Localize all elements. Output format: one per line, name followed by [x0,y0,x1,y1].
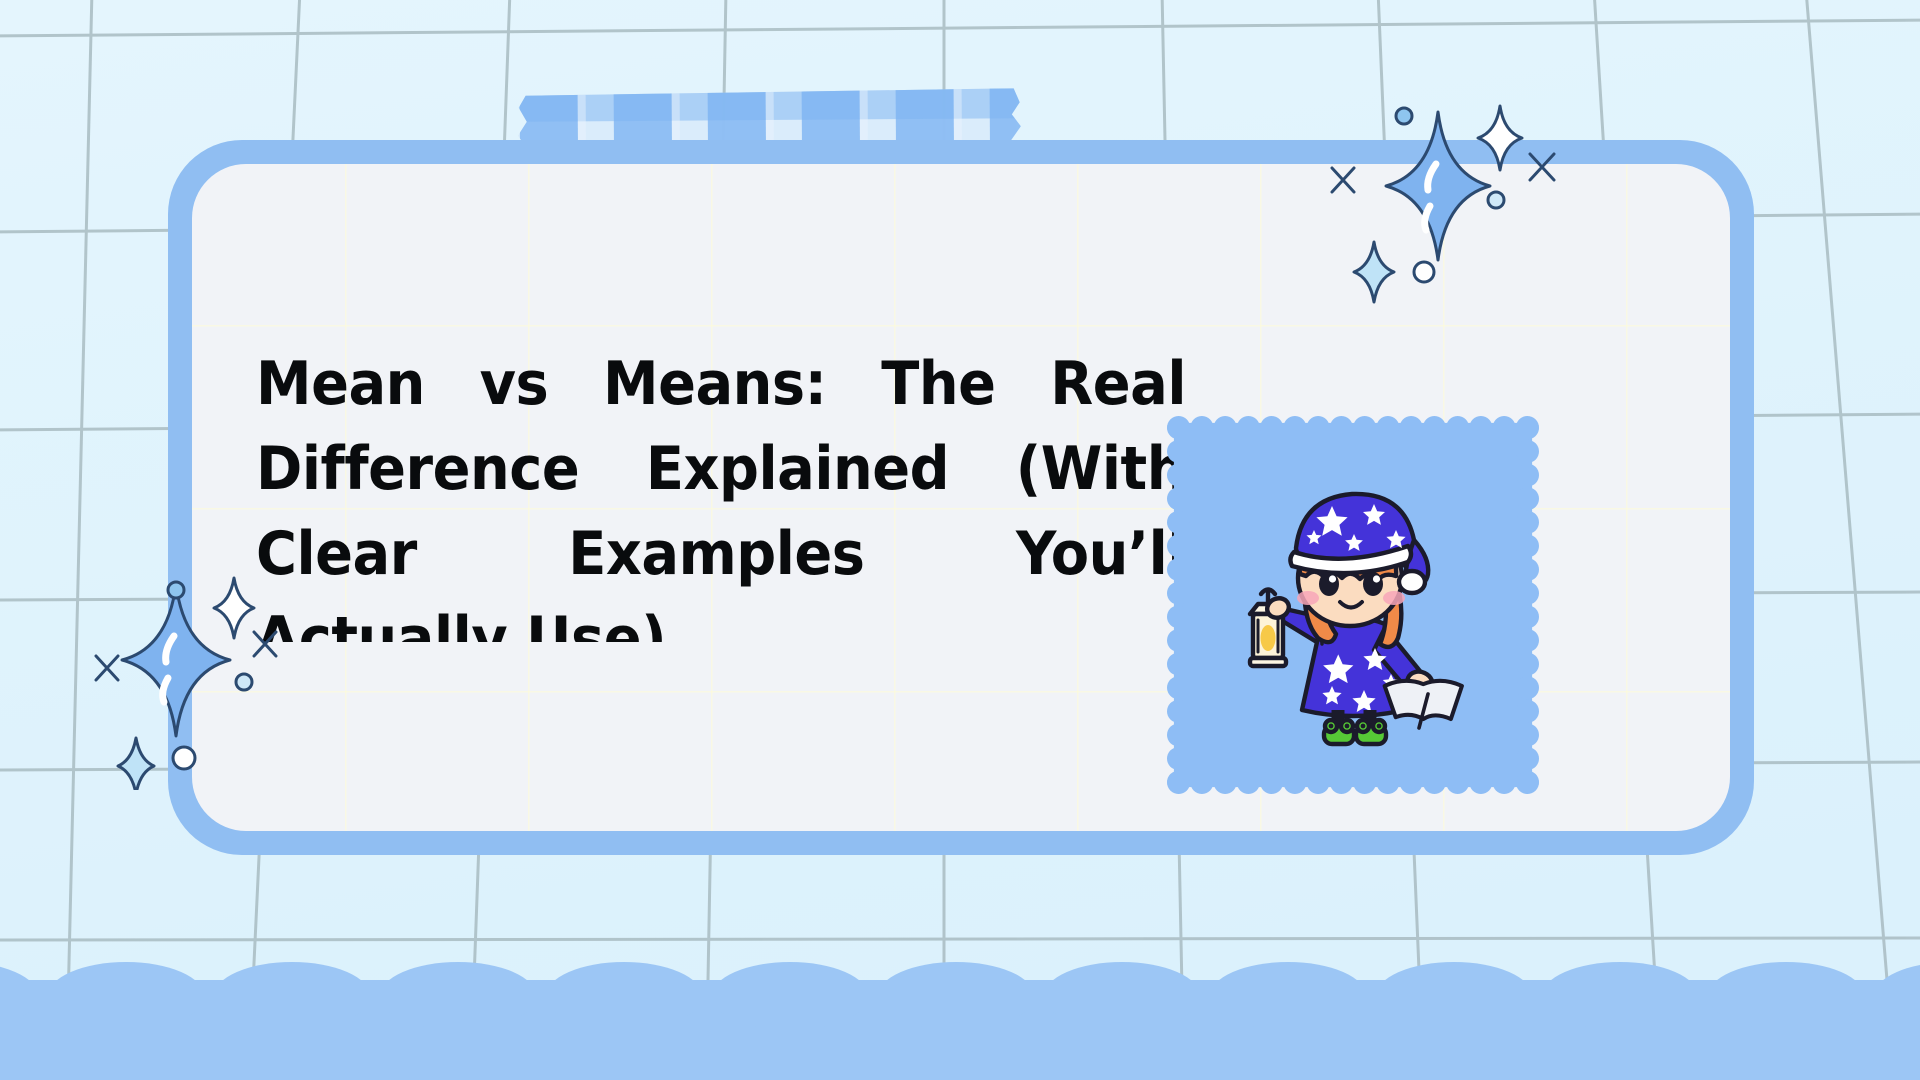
content-card: Mean vs Means: The Real Difference Expla… [192,164,1730,831]
scalloped-bottom-band [0,920,1920,1080]
content-frame: Mean vs Means: The Real Difference Expla… [168,140,1754,855]
girl-with-lantern-icon [1228,478,1478,748]
mascot-image-card [1167,416,1539,794]
page-title-text: Mean vs Means: The Real Difference Expla… [256,342,1186,642]
page-title: Mean vs Means: The Real Difference Expla… [256,342,1216,642]
poster-canvas: Mean vs Means: The Real Difference Expla… [0,0,1920,1080]
